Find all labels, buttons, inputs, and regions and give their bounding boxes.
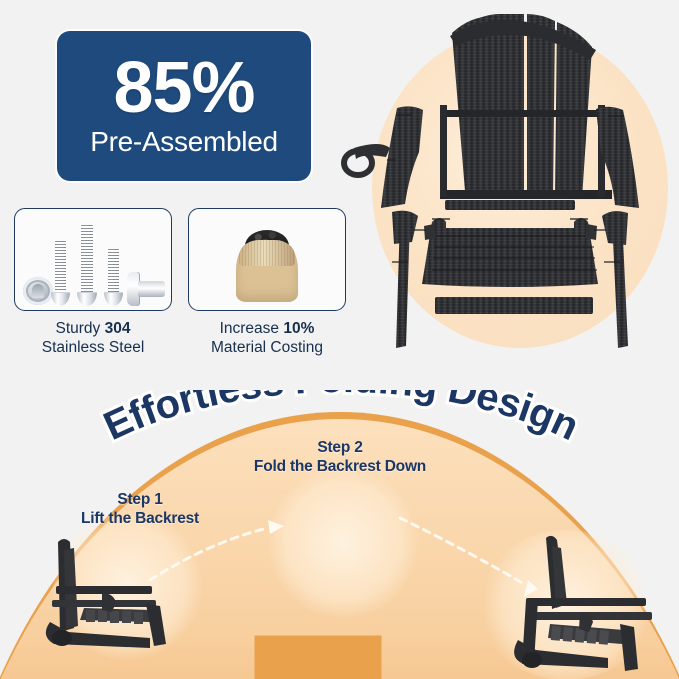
screw-3 [108,249,119,299]
feature-image-box-sack [188,208,346,311]
pre-assembled-badge: 85% Pre-Assembled [57,31,311,181]
caption-line2: Stainless Steel [42,339,145,356]
step-1-label: Step 1 Lift the Backrest [40,490,240,529]
screws-icon [15,209,171,310]
arrow-step1-to-step2-head [268,520,284,534]
feature-stainless-steel: Sturdy 304 Stainless Steel [14,208,172,358]
caption-prefix: Sturdy [56,320,105,337]
step-2-label: Step 2 Fold the Backrest Down [240,438,440,477]
right-bracket [585,224,597,240]
step-1-title: Lift the Backrest [40,509,240,528]
left-armrest [381,106,423,208]
support-rail [435,297,593,314]
bolt-side [127,272,165,306]
feature-image-box-screws [14,208,172,311]
seat-panel [422,218,598,287]
screw-2 [81,225,93,299]
feature-material-costing: Increase 10% Material Costing [188,208,346,358]
caption-prefix: Increase [220,320,284,337]
chair-step-2-image [502,532,674,679]
feature-caption-sack: Increase 10% Material Costing [188,320,346,358]
feature-caption-screws: Sturdy 304 Stainless Steel [14,320,172,358]
step-1-number: Step 1 [40,490,240,509]
caption-line2: Material Costing [211,339,323,356]
caption-bold: 304 [105,320,131,337]
badge-percent: 85% [113,54,254,122]
sack-mouth [239,240,295,266]
badge-subtitle: Pre-Assembled [90,126,278,158]
screw-1 [55,241,66,299]
step-2-number: Step 2 [240,438,440,457]
chair-step-1-image [28,530,208,660]
backrest-slat-panel [440,14,612,199]
step-2-title: Fold the Backrest Down [240,457,440,476]
exploded-chair-view [340,0,679,380]
cup-holder-ring [344,144,390,175]
infographic-canvas: 85% Pre-Assembled Sturdy 3 [0,0,679,679]
caption-bold: 10% [283,320,314,337]
folding-design-section: Effortless Folding Design Step 1 Lift th… [0,390,679,679]
washer-part [23,277,53,305]
burlap-sack-icon [189,209,345,310]
left-bracket [424,224,436,240]
front-crossbar [445,200,575,210]
